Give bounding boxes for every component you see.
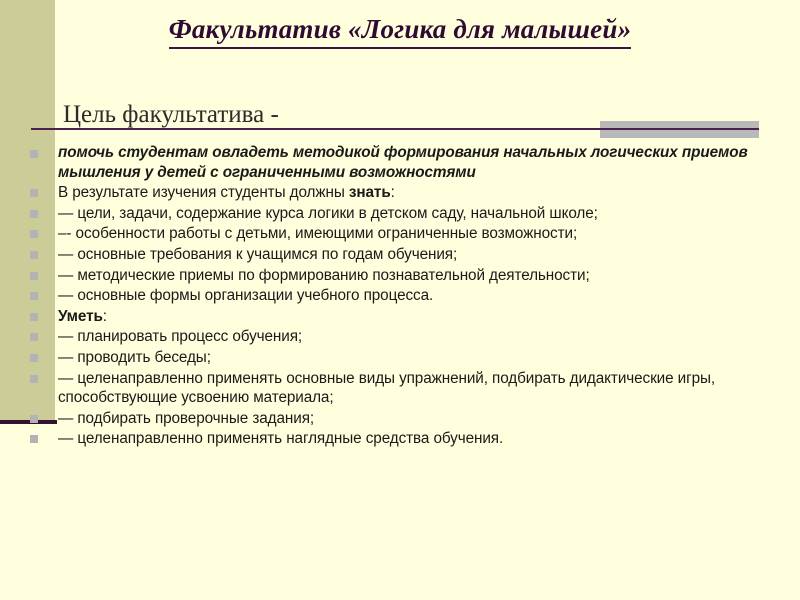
list-item-emphasis: знать	[349, 184, 391, 201]
list-item: — основные требования к учащимся по года…	[0, 245, 800, 265]
list-item-emphasis: Уметь	[58, 308, 103, 325]
section-heading-block: Цель факультатива -	[31, 103, 761, 141]
list-item: — подбирать проверочные задания;	[0, 409, 800, 429]
list-item: — проводить беседы;	[0, 348, 800, 368]
list-item-label: — целенаправленно применять наглядные ср…	[58, 429, 762, 449]
list-item-text-before: В результате изучения студенты должны	[58, 184, 349, 201]
square-bullet-icon	[30, 251, 38, 259]
title-block: Факультатив «Логика для малышей»	[0, 14, 800, 49]
square-bullet-icon	[30, 313, 38, 321]
slide-title: Факультатив «Логика для малышей»	[169, 14, 632, 49]
bullet-list: помочь студентам овладеть методикой форм…	[0, 143, 800, 450]
list-item-label: — подбирать проверочные задания;	[58, 409, 762, 429]
list-item: — целенаправленно применять наглядные ср…	[0, 429, 800, 449]
list-item-label: — основные требования к учащимся по года…	[58, 245, 762, 265]
square-bullet-icon	[30, 210, 38, 218]
list-item: помочь студентам овладеть методикой форм…	[0, 143, 800, 182]
square-bullet-icon	[30, 435, 38, 443]
list-item-label: — методические приемы по формированию по…	[58, 266, 762, 286]
slide-canvas: Факультатив «Логика для малышей» Цель фа…	[0, 0, 800, 600]
square-bullet-icon	[30, 333, 38, 341]
list-item-label: — целенаправленно применять основные вид…	[58, 369, 762, 408]
list-item: — целенаправленно применять основные вид…	[0, 369, 800, 408]
list-item-label: — основные формы организации учебного пр…	[58, 286, 762, 306]
list-item: –- особенности работы с детьми, имеющими…	[0, 224, 800, 244]
list-item-label: — планировать процесс обучения;	[58, 327, 762, 347]
square-bullet-icon	[30, 150, 38, 158]
list-item-text-after: :	[103, 308, 107, 325]
list-item: — планировать процесс обучения;	[0, 327, 800, 347]
list-item: — методические приемы по формированию по…	[0, 266, 800, 286]
square-bullet-icon	[30, 292, 38, 300]
list-item-text-after: :	[391, 184, 395, 201]
square-bullet-icon	[30, 272, 38, 280]
square-bullet-icon	[30, 354, 38, 362]
list-item-label: В результате изучения студенты должны зн…	[58, 183, 762, 203]
list-item-label: –- особенности работы с детьми, имеющими…	[58, 224, 762, 244]
list-item-label: Уметь:	[58, 307, 762, 327]
list-item-label: — проводить беседы;	[58, 348, 762, 368]
square-bullet-icon	[30, 375, 38, 383]
list-item-label: — цели, задачи, содержание курса логики …	[58, 204, 762, 224]
list-item: Уметь:	[0, 307, 800, 327]
square-bullet-icon	[30, 415, 38, 423]
list-item: В результате изучения студенты должны зн…	[0, 183, 800, 203]
square-bullet-icon	[30, 189, 38, 197]
list-item-label: помочь студентам овладеть методикой форм…	[58, 143, 762, 182]
list-item: — основные формы организации учебного пр…	[0, 286, 800, 306]
square-bullet-icon	[30, 230, 38, 238]
list-item: — цели, задачи, содержание курса логики …	[0, 204, 800, 224]
section-heading: Цель факультатива -	[63, 101, 279, 129]
